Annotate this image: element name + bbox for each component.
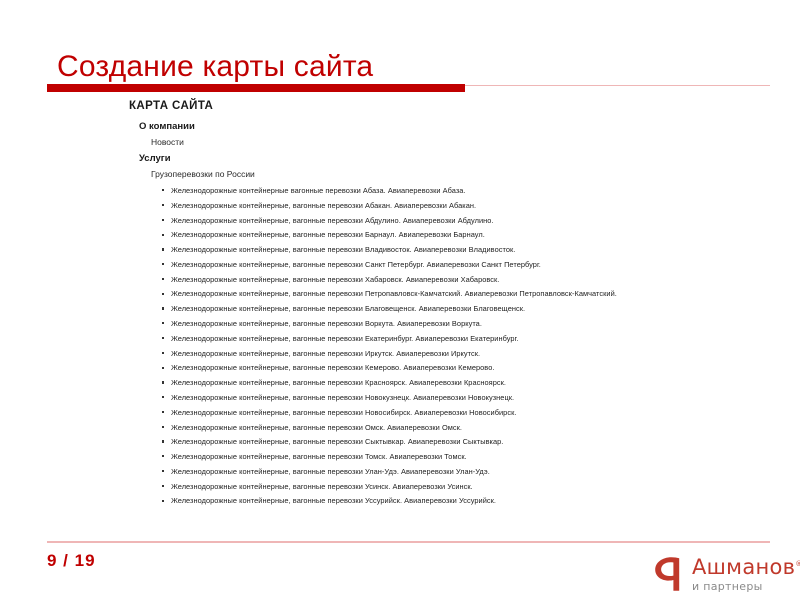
sitemap-city-item[interactable]: Железнодорожные контейнерные, вагонные п… bbox=[160, 407, 649, 419]
sitemap-city-item[interactable]: Железнодорожные контейнерные, вагонные п… bbox=[160, 333, 649, 345]
sitemap-city-item[interactable]: Железнодорожные контейнерные, вагонные п… bbox=[160, 318, 649, 330]
sitemap-city-item[interactable]: Железнодорожные контейнерные, вагонные п… bbox=[160, 244, 649, 256]
sitemap-city-item[interactable]: Железнодорожные контейнерные, вагонные п… bbox=[160, 259, 649, 271]
sitemap-city-item[interactable]: Железнодорожные контейнерные, вагонные п… bbox=[160, 229, 649, 241]
sitemap-city-item[interactable]: Железнодорожные контейнерные, вагонные п… bbox=[160, 348, 649, 360]
page-title: Создание карты сайта bbox=[57, 48, 373, 86]
page-number: 9 / 19 bbox=[47, 551, 96, 571]
ashmanov-spiral-icon bbox=[649, 554, 685, 594]
sitemap-city-item[interactable]: Железнодорожные контейнерные, вагонные п… bbox=[160, 377, 649, 389]
logo-wordmark: Ашманов® и партнеры bbox=[692, 557, 800, 592]
sitemap-city-item[interactable]: Железнодорожные контейнерные, вагонные п… bbox=[160, 495, 649, 507]
sitemap-city-item[interactable]: Железнодорожные контейнерные, вагонные п… bbox=[160, 362, 649, 374]
title-divider-thick bbox=[47, 84, 465, 92]
sitemap-city-item[interactable]: Железнодорожные контейнерные вагонные пе… bbox=[160, 185, 649, 197]
sitemap-city-item[interactable]: Железнодорожные контейнерные, вагонные п… bbox=[160, 288, 649, 300]
logo-name: Ашманов® bbox=[692, 557, 800, 578]
logo-subtitle: и партнеры bbox=[692, 581, 800, 592]
sitemap-section-services[interactable]: Услуги bbox=[139, 153, 649, 164]
sitemap-screenshot: КАРТА САЙТА О компании Новости Услуги Гр… bbox=[129, 100, 649, 510]
logo: Ашманов® и партнеры bbox=[649, 554, 800, 594]
sitemap-city-item[interactable]: Железнодорожные контейнерные, вагонные п… bbox=[160, 466, 649, 478]
registered-icon: ® bbox=[795, 560, 800, 568]
sitemap-link-news[interactable]: Новости bbox=[151, 137, 649, 147]
sitemap-section-about[interactable]: О компании bbox=[139, 121, 649, 132]
sitemap-city-item[interactable]: Железнодорожные контейнерные, вагонные п… bbox=[160, 436, 649, 448]
sitemap-link-freight-russia[interactable]: Грузоперевозки по России bbox=[151, 169, 649, 179]
sitemap-city-item[interactable]: Железнодорожные контейнерные, вагонные п… bbox=[160, 303, 649, 315]
sitemap-city-list: Железнодорожные контейнерные вагонные пе… bbox=[160, 185, 649, 507]
sitemap-city-item[interactable]: Железнодорожные контейнерные, вагонные п… bbox=[160, 422, 649, 434]
sitemap-heading: КАРТА САЙТА bbox=[129, 100, 649, 112]
sitemap-city-item[interactable]: Железнодорожные контейнерные, вагонные п… bbox=[160, 200, 649, 212]
sitemap-city-item[interactable]: Железнодорожные контейнерные, вагонные п… bbox=[160, 481, 649, 493]
sitemap-city-item[interactable]: Железнодорожные контейнерные, вагонные п… bbox=[160, 215, 649, 227]
sitemap-city-item[interactable]: Железнодорожные контейнерные, вагонные п… bbox=[160, 392, 649, 404]
footer-divider bbox=[47, 541, 770, 543]
slide: Создание карты сайта КАРТА САЙТА О компа… bbox=[0, 0, 800, 600]
sitemap-city-item[interactable]: Железнодорожные контейнерные, вагонные п… bbox=[160, 451, 649, 463]
sitemap-city-item[interactable]: Железнодорожные контейнерные, вагонные п… bbox=[160, 274, 649, 286]
logo-name-text: Ашманов bbox=[692, 555, 795, 579]
